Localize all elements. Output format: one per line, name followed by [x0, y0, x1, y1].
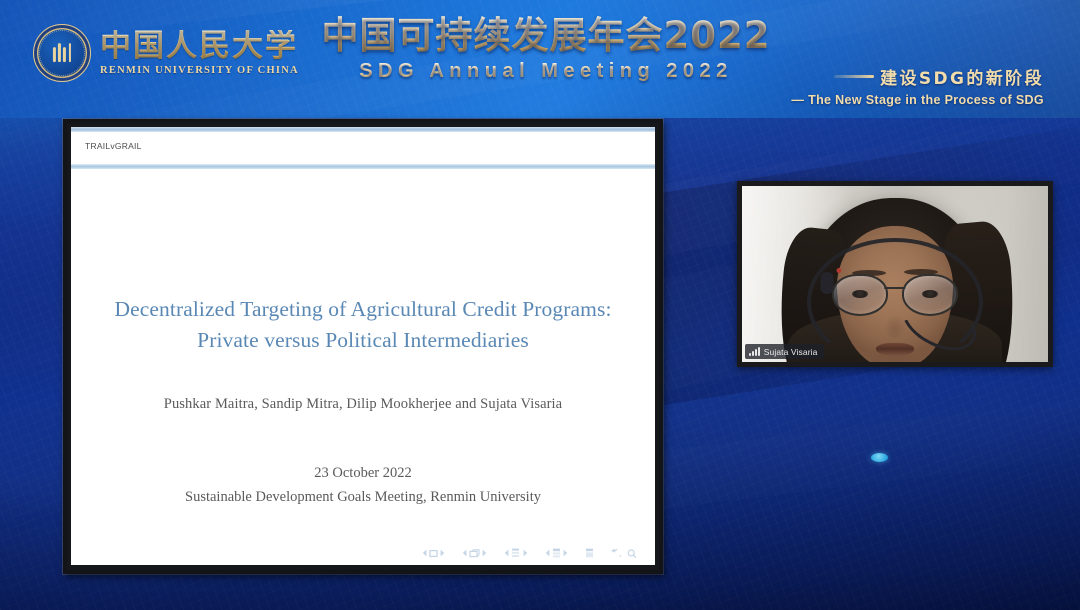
- slide-meta: 23 October 2022 Sustainable Development …: [185, 462, 541, 509]
- beamer-navigation-bar[interactable]: [422, 548, 638, 558]
- event-subtitle-cn: 建设SDG的新阶段: [880, 64, 1044, 89]
- slide-institution-label: TRAILvGRAIL: [85, 141, 142, 151]
- slide-header-bar: TRAILvGRAIL: [71, 132, 655, 164]
- event-subtitle-cn-row: 建设SDG的新阶段: [791, 64, 1044, 89]
- participant-name-label: Sujata Visaria: [764, 347, 818, 357]
- beamer-slide-nav-icon[interactable]: [422, 549, 445, 558]
- cursor-dot-icon: [871, 453, 888, 462]
- beamer-section-nav-icon[interactable]: [545, 548, 568, 558]
- university-name-en: RENMIN UNIVERSITY OF CHINA: [100, 65, 299, 76]
- dash-icon: [834, 75, 874, 78]
- event-title-en: SDG Annual Meeting 2022: [306, 60, 786, 83]
- beamer-back-nav-icon[interactable]: [611, 549, 621, 558]
- university-name-cn: 中国人民大学: [100, 30, 299, 63]
- event-subtitle: 建设SDG的新阶段 — The New Stage in the Process…: [791, 64, 1044, 107]
- signal-strength-icon: [749, 347, 760, 356]
- beamer-frame-nav-icon[interactable]: [462, 549, 487, 558]
- presentation-screen: 中国人民大学 RENMIN UNIVERSITY OF CHINA 中国可持续发…: [0, 0, 1080, 610]
- headset-indicator-icon: [837, 268, 842, 273]
- beamer-search-nav-icon[interactable]: [627, 549, 637, 558]
- slide-title: Decentralized Targeting of Agricultural …: [103, 294, 623, 355]
- university-logo: 中国人民大学 RENMIN UNIVERSITY OF CHINA: [33, 24, 299, 82]
- beamer-subsection-nav-icon[interactable]: [504, 548, 527, 558]
- slide-authors: Pushkar Maitra, Sandip Mitra, Dilip Mook…: [164, 396, 562, 413]
- slide-page: TRAILvGRAIL Decentralized Targeting of A…: [71, 127, 655, 565]
- webcam-video: Sujata Visaria: [742, 186, 1048, 362]
- event-title-cn: 中国可持续发展年会2022: [306, 16, 786, 56]
- seal-glyph: [53, 43, 71, 62]
- headset-earpiece-icon: [821, 272, 834, 294]
- beamer-presentation-nav-icon[interactable]: [585, 548, 594, 558]
- webcam-tile[interactable]: Sujata Visaria: [737, 181, 1053, 367]
- event-subtitle-en: — The New Stage in the Process of SDG: [791, 93, 1044, 107]
- slide-body: Decentralized Targeting of Agricultural …: [71, 169, 655, 565]
- slide-venue: Sustainable Development Goals Meeting, R…: [185, 486, 541, 509]
- shared-slide-window[interactable]: TRAILvGRAIL Decentralized Targeting of A…: [63, 119, 663, 574]
- slide-date: 23 October 2022: [185, 462, 541, 485]
- participant-name-badge: Sujata Visaria: [745, 344, 824, 359]
- university-wordmark: 中国人民大学 RENMIN UNIVERSITY OF CHINA: [100, 30, 299, 77]
- event-title: 中国可持续发展年会2022 SDG Annual Meeting 2022: [306, 16, 786, 83]
- ruc-seal-icon: [33, 24, 91, 82]
